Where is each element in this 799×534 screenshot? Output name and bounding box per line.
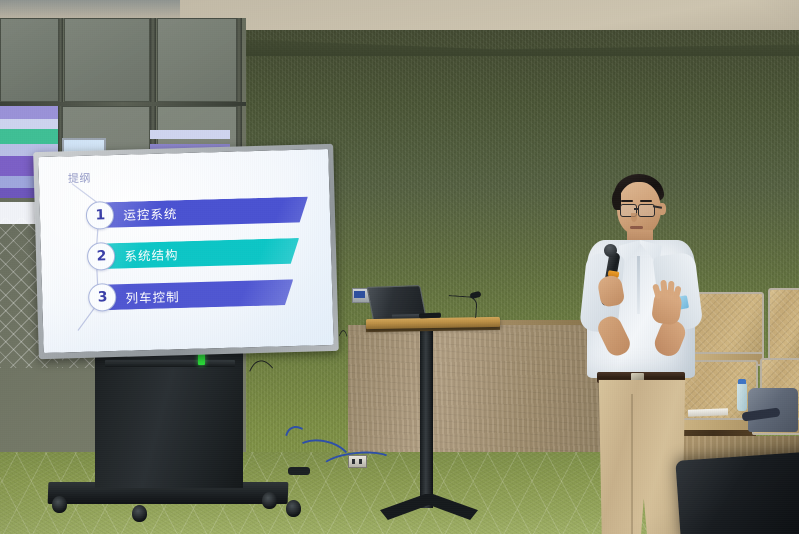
trouser-crease: [631, 394, 633, 534]
slide-item-bar: 列车控制: [105, 279, 294, 310]
chair-backrest: [768, 288, 799, 362]
slide-item-bar: 运控系统: [103, 197, 309, 228]
wall-plate-port: [354, 291, 365, 298]
slide-item-row: 2 系统结构: [87, 238, 300, 269]
tv-cart-shelf: [105, 360, 235, 367]
eyeglasses-bridge: [634, 208, 639, 210]
slide-item-row: 1 运控系统: [86, 197, 309, 229]
nose: [631, 213, 637, 222]
reflection-band: [0, 119, 58, 129]
green-adapter-light-icon: [198, 353, 205, 365]
presentation-photo-scene: 提纲 1 运控系统 2 系统结构 3: [0, 0, 799, 534]
chair-fabric-texture: [770, 290, 799, 360]
glass-pane: [64, 18, 150, 102]
water-bottle[interactable]: [737, 383, 747, 411]
slide-item-label: 系统结构: [124, 245, 179, 266]
tv-cart-column: [95, 350, 243, 488]
floor-power-box: [348, 455, 367, 468]
podium-stem: [420, 328, 433, 508]
shirt-placket: [637, 256, 640, 314]
podium-device: [419, 313, 441, 319]
eyebrow: [640, 200, 652, 202]
slide-title: 提纲: [68, 169, 91, 186]
cart-caster[interactable]: [286, 500, 301, 517]
bottle-cap: [738, 379, 746, 384]
presentation-slide: 提纲 1 运控系统 2 系统结构 3: [38, 149, 333, 353]
reflection-band: [0, 129, 58, 144]
slide-item-label: 列车控制: [125, 286, 180, 307]
glass-pane: [157, 18, 237, 102]
cable-connector: [288, 467, 310, 475]
cart-caster[interactable]: [132, 505, 147, 522]
ear: [658, 203, 666, 215]
glass-pane: [0, 18, 59, 102]
cart-caster[interactable]: [52, 496, 67, 513]
display-screen: 提纲 1 运控系统 2 系统结构 3: [38, 149, 333, 353]
reflection-band: [0, 106, 58, 119]
reflection-band: [150, 130, 230, 139]
eyebrow: [621, 200, 633, 202]
slide-item-label: 运控系统: [123, 203, 178, 224]
cart-caster[interactable]: [262, 492, 277, 509]
foreground-monitor[interactable]: [675, 451, 799, 534]
slide-item-row: 3 列车控制: [88, 279, 294, 310]
flat-panel-display[interactable]: 提纲 1 运控系统 2 系统结构 3: [33, 144, 339, 359]
trousers: [597, 380, 687, 534]
slide-item-bar: 系统结构: [104, 238, 300, 269]
mouth: [630, 226, 643, 229]
